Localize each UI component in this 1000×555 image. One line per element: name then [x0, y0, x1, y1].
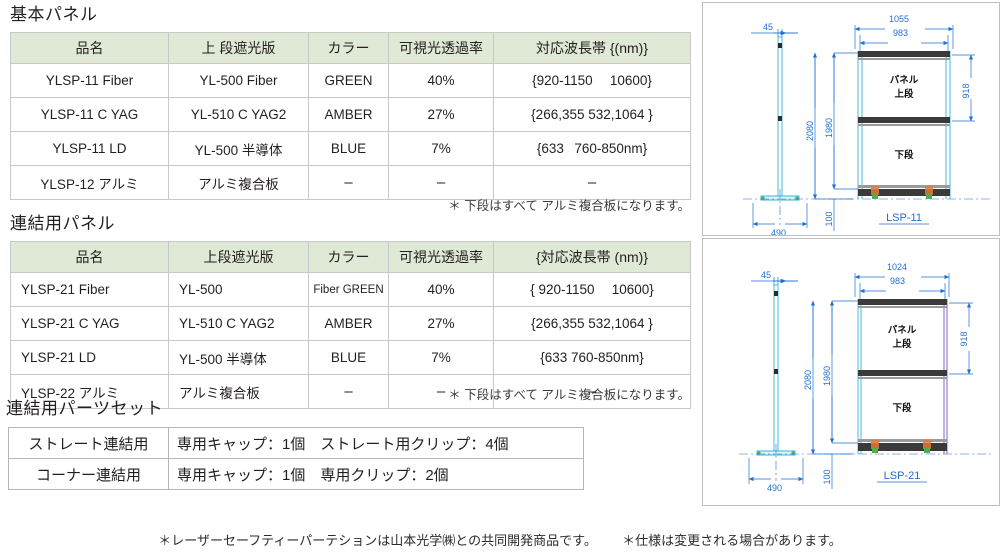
cell-shade: YL-510 C YAG2 [169, 98, 309, 132]
col-header-name: 品名 [11, 242, 169, 273]
cell-color: GREEN [309, 64, 389, 98]
table-header-row: 品名 上段遮光版 カラー 可視光透過率 {対応波長帯 (nm)} [11, 242, 691, 273]
basic-panel-table: 品名 上 段遮光版 カラー 可視光透過率 対応波長帯 {(nm)} YLSP-1… [10, 32, 691, 200]
table-row: YLSP-11 LD YL-500 半導体 BLUE 7% {633 760-8… [11, 132, 691, 166]
table-row: YLSP-21 C YAG YL-510 C YAG2 AMBER 27% {2… [11, 307, 691, 341]
basic-panel-note: ＊ 下段はすべて アルミ複合板になります。 [330, 199, 694, 214]
cell-name: YLSP-21 Fiber [11, 273, 169, 307]
cell-vlt: 27% [389, 98, 494, 132]
footer-notes: ＊レーザーセーフティーパーテションは山本光学㈱との共同開発商品です。 ＊仕様は変… [0, 530, 1000, 549]
spec-sheet-page: 基本パネル 品名 上 段遮光版 カラー 可視光透過率 対応波長帯 {(nm)} … [0, 0, 1000, 555]
table-row: YLSP-21 LD YL-500 半導体 BLUE 7% {633 760-8… [11, 341, 691, 375]
table-row: YLSP-12 アルミ アルミ複合板 – – – [11, 166, 691, 200]
cell-color: Fiber GREEN [309, 273, 389, 307]
cell-wavelength: {633 760-850nm} [494, 341, 691, 375]
cell-parts-items: 専用キャップ：1個 専用クリップ：2個 [169, 459, 584, 490]
cell-color: AMBER [309, 98, 389, 132]
cell-name: YLSP-11 LD [11, 132, 169, 166]
dim-base-width: 490 [767, 483, 782, 493]
footer-note-joint-development: ＊レーザーセーフティーパーテションは山本光学㈱との共同開発商品です。 [158, 533, 597, 548]
table-row: YLSP-21 Fiber YL-500 Fiber GREEN 40% { 9… [11, 273, 691, 307]
cell-vlt: – [389, 166, 494, 200]
footer-note-spec-change: ＊仕様は変更される場合があります。 [622, 533, 842, 548]
cell-name: YLSP-11 C YAG [11, 98, 169, 132]
dim-height-base: 100 [824, 211, 834, 226]
basic-panel-title: 基本パネル [10, 6, 98, 25]
cell-name: YLSP-21 LD [11, 341, 169, 375]
link-panel-title: 連結用パネル [10, 215, 115, 234]
link-panel-note: ＊ 下段はすべて アルミ複合板になります。 [330, 388, 694, 403]
table-row: YLSP-11 Fiber YL-500 Fiber GREEN 40% {92… [11, 64, 691, 98]
parts-set-title: 連結用パーツセット [6, 400, 163, 419]
cell-vlt: 40% [389, 273, 494, 307]
cell-shade: YL-510 C YAG2 [169, 307, 309, 341]
model-label-lsp21: LSP-21 [884, 470, 921, 482]
cell-name: YLSP-21 C YAG [11, 307, 169, 341]
table-row: コーナー連結用 専用キャップ：1個 専用クリップ：2個 [9, 459, 584, 490]
table-row: ストレート連結用 専用キャップ：1個 ストレート用クリップ：4個 [9, 428, 584, 459]
cell-vlt: 7% [389, 341, 494, 375]
col-header-name: 品名 [11, 33, 169, 64]
label-panel-upper-line1: パネル [888, 324, 917, 336]
label-panel-upper-line2: 上段 [894, 88, 914, 100]
link-panel-table: 品名 上段遮光版 カラー 可視光透過率 {対応波長帯 (nm)} YLSP-21… [10, 241, 691, 409]
dim-side-thickness: 45 [763, 22, 773, 32]
cell-wavelength: {266,355 532,1064 } [494, 98, 691, 132]
dim-height-upper: 918 [961, 83, 971, 98]
technical-drawing-lsp11: 45 490 1055 983 2080 1980 918 100 パネル 上段… [703, 3, 999, 235]
cell-shade: アルミ複合板 [169, 375, 309, 409]
dim-height-panel: 1980 [824, 118, 834, 138]
label-panel-upper-line1: パネル [890, 74, 919, 86]
cell-wavelength: {633 760-850nm} [494, 132, 691, 166]
dim-height-total: 2080 [803, 370, 813, 390]
cell-vlt: 7% [389, 132, 494, 166]
dim-height-upper: 918 [959, 331, 969, 346]
dim-width-inner: 983 [893, 28, 908, 38]
col-header-vlt: 可視光透過率 [389, 242, 494, 273]
cell-parts-kind: コーナー連結用 [9, 459, 169, 490]
cell-parts-items: 専用キャップ：1個 ストレート用クリップ：4個 [169, 428, 584, 459]
dim-height-panel: 1980 [822, 366, 832, 386]
col-header-shade: 上段遮光版 [169, 242, 309, 273]
cell-shade: YL-500 半導体 [169, 132, 309, 166]
technical-drawing-lsp21: 45 490 1024 983 2080 1980 918 100 パネル 上段… [703, 239, 999, 505]
cell-wavelength: {266,355 532,1064 } [494, 307, 691, 341]
dim-width-outer: 1055 [889, 14, 909, 24]
dim-height-base: 100 [822, 469, 832, 484]
dim-height-total: 2080 [805, 121, 815, 141]
left-column: 基本パネル 品名 上 段遮光版 カラー 可視光透過率 対応波長帯 {(nm)} … [0, 0, 700, 555]
cell-name: YLSP-12 アルミ [11, 166, 169, 200]
col-header-wavelength: {対応波長帯 (nm)} [494, 242, 691, 273]
cell-vlt: 40% [389, 64, 494, 98]
cell-name: YLSP-11 Fiber [11, 64, 169, 98]
col-header-shade: 上 段遮光版 [169, 33, 309, 64]
cell-vlt: 27% [389, 307, 494, 341]
dim-width-outer: 1024 [887, 262, 907, 272]
table-header-row: 品名 上 段遮光版 カラー 可視光透過率 対応波長帯 {(nm)} [11, 33, 691, 64]
table-row: YLSP-11 C YAG YL-510 C YAG2 AMBER 27% {2… [11, 98, 691, 132]
cell-shade: アルミ複合板 [169, 166, 309, 200]
cell-color: – [309, 166, 389, 200]
cell-color: AMBER [309, 307, 389, 341]
col-header-vlt: 可視光透過率 [389, 33, 494, 64]
drawing-panel-lsp11: 45 490 1055 983 2080 1980 918 100 パネル 上段… [702, 2, 1000, 236]
col-header-wavelength: 対応波長帯 {(nm)} [494, 33, 691, 64]
cell-shade: YL-500 半導体 [169, 341, 309, 375]
cell-wavelength: { 920-1150 10600} [494, 273, 691, 307]
dim-base-width: 490 [771, 228, 786, 235]
drawing-panel-lsp21: 45 490 1024 983 2080 1980 918 100 パネル 上段… [702, 238, 1000, 506]
cell-color: BLUE [309, 132, 389, 166]
label-panel-lower: 下段 [894, 149, 914, 161]
col-header-color: カラー [309, 242, 389, 273]
dim-width-inner: 983 [890, 276, 905, 286]
parts-set-table: ストレート連結用 専用キャップ：1個 ストレート用クリップ：4個 コーナー連結用… [8, 427, 584, 490]
cell-shade: YL-500 [169, 273, 309, 307]
cell-color: BLUE [309, 341, 389, 375]
cell-wavelength: – [494, 166, 691, 200]
dim-side-thickness: 45 [761, 270, 771, 280]
cell-wavelength: {920-1150 10600} [494, 64, 691, 98]
col-header-color: カラー [309, 33, 389, 64]
label-panel-upper-line2: 上段 [892, 338, 912, 350]
cell-shade: YL-500 Fiber [169, 64, 309, 98]
cell-parts-kind: ストレート連結用 [9, 428, 169, 459]
label-panel-lower: 下段 [892, 402, 912, 414]
model-label-lsp11: LSP-11 [886, 212, 922, 224]
